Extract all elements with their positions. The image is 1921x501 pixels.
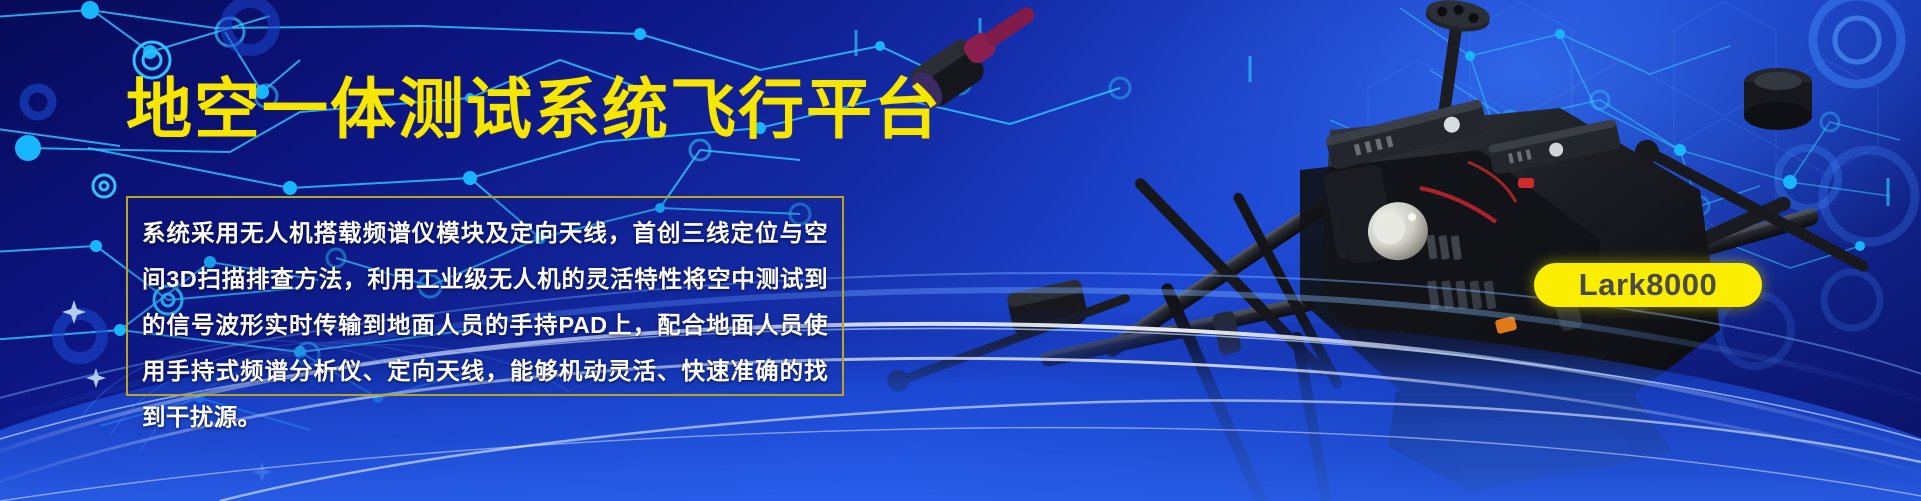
description-box: 系统采用无人机搭载频谱仪模块及定向天线，首创三线定位与空间3D扫描排查方法，利用… <box>126 196 844 396</box>
promotional-banner: 地空一体测试系统飞行平台 系统采用无人机搭载频谱仪模块及定向天线，首创三线定位与… <box>0 0 1921 501</box>
description-text: 系统采用无人机搭载频谱仪模块及定向天线，首创三线定位与空间3D扫描排查方法，利用… <box>142 210 828 440</box>
page-title: 地空一体测试系统飞行平台 <box>126 76 942 142</box>
product-name-badge: Lark8000 <box>1534 263 1762 307</box>
